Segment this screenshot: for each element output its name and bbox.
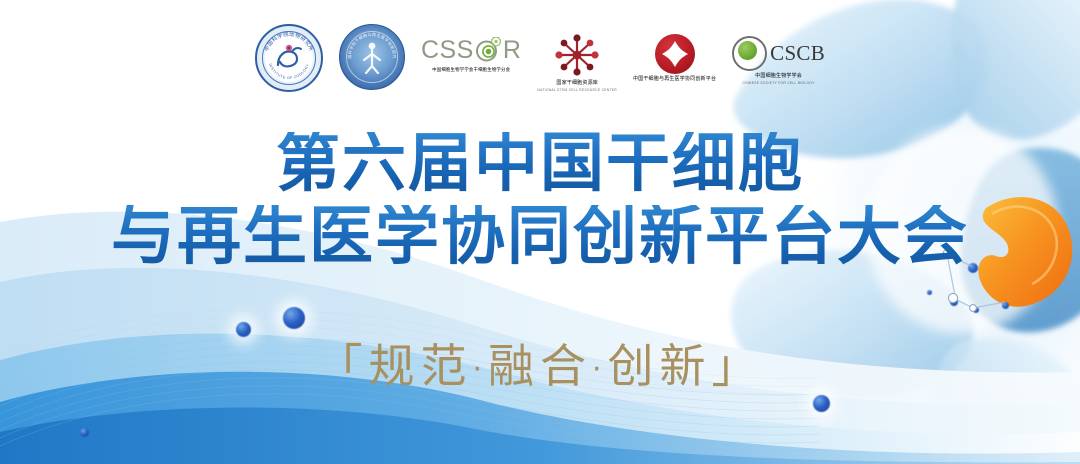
institute-of-zoology-seal-icon: 中国科学院动物研究所 INSTITUTE OF ZOOLOGY (255, 24, 323, 92)
seal-emblem-icon (272, 43, 306, 73)
seal-figure-icon (357, 40, 387, 74)
tagline-close-bracket: 」 (712, 339, 764, 393)
molecule-dot (283, 307, 305, 329)
logo-item-cscb: CSCB 中国细胞生物学学会 CHINESE SOCIETY FOR CELL … (732, 24, 825, 85)
conference-tagline: 「规范·融合·创新」 (0, 330, 1080, 396)
regenerative-platform-caption: 中国干细胞与再生医学协同创新平台 (633, 76, 716, 82)
conference-banner: 中国科学院动物研究所 INSTITUTE OF ZOOLOGY (0, 0, 1080, 464)
logo-item-stem-cell-network: 国家干细胞资源库 NATIONAL STEM CELL RESOURCE CEN… (537, 24, 617, 92)
tagline-separator-1: · (472, 352, 488, 387)
cscb-mark-icon: CSCB (732, 36, 825, 71)
cscb-caption-cn: 中国细胞生物学学会 (755, 73, 802, 79)
logo-item-academy-blue-seal: 中国科学院干细胞与再生医学创新研究院 (339, 24, 405, 90)
title-line-2: 与再生医学协同创新平台大会 (0, 205, 1080, 270)
stem-cell-network-caption-en: NATIONAL STEM CELL RESOURCE CENTER (537, 88, 617, 92)
molecule-dot (80, 428, 89, 437)
stem-cell-network-caption: 国家干细胞资源库 (556, 80, 598, 86)
csscor-wordmark-icon: CSS R (421, 36, 521, 65)
logo-item-csscor: CSS R 中国细胞生物学学会干细胞生物学分会 (421, 24, 521, 73)
cscb-caption-en: CHINESE SOCIETY FOR CELL BIOLOGY (742, 81, 814, 85)
logo-item-regenerative-platform: 中国干细胞与再生医学协同创新平台 (633, 24, 716, 82)
tagline-word-2: 融合 (488, 339, 592, 393)
molecule-dot (1002, 302, 1009, 309)
cscb-letters: CSCB (770, 41, 825, 66)
tagline-word-3: 创新 (608, 339, 712, 393)
molecule-dot (950, 298, 958, 306)
tagline-separator-2: · (592, 352, 608, 387)
conference-title: 第六届中国干细胞 与再生医学协同创新平台大会 (0, 132, 1080, 271)
partner-logo-row: 中国科学院动物研究所 INSTITUTE OF ZOOLOGY (0, 24, 1080, 104)
stem-cell-network-icon (551, 32, 603, 78)
csscor-letters-before: CSS (421, 36, 474, 65)
logo-item-institute-of-zoology: 中国科学院动物研究所 INSTITUTE OF ZOOLOGY (255, 24, 323, 92)
molecule-dot (927, 290, 932, 295)
tagline-open-bracket: 「 (316, 339, 368, 393)
csscor-letters-after: R (503, 36, 522, 65)
title-line-1: 第六届中国干细胞 (0, 132, 1080, 197)
tagline-word-1: 规范 (368, 339, 472, 393)
csscor-o-ring-icon (475, 37, 502, 64)
regenerative-platform-icon (655, 34, 695, 74)
csscor-caption: 中国细胞生物学学会干细胞生物学分会 (432, 67, 510, 73)
cscb-ring-icon (732, 36, 767, 71)
molecule-dot (813, 395, 830, 412)
academy-blue-seal-icon: 中国科学院干细胞与再生医学创新研究院 (339, 24, 405, 90)
molecule-dot (973, 307, 979, 313)
